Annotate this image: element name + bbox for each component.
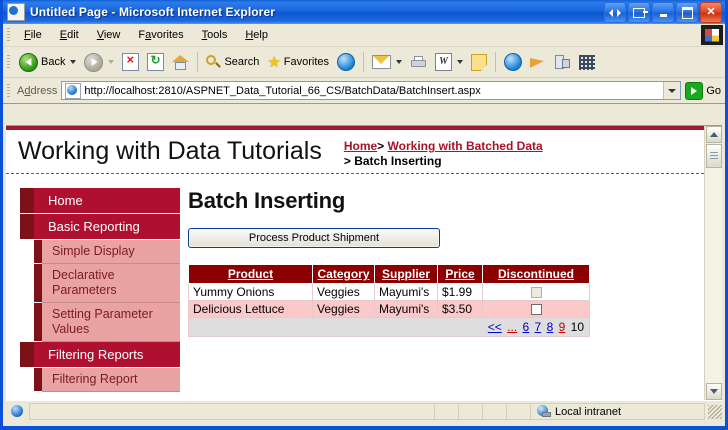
menu-tools-rest: ools xyxy=(207,29,227,41)
go-arrow-icon xyxy=(685,82,703,100)
scrollbar-thumb[interactable] xyxy=(706,144,722,168)
page-viewport: Working with Data Tutorials Home> Workin… xyxy=(6,125,722,400)
discontinued-checkbox[interactable] xyxy=(531,287,542,298)
table-row: Yummy Onions Veggies Mayumi's $1.99 xyxy=(189,284,590,301)
search-icon xyxy=(206,55,221,70)
discuss-icon xyxy=(530,55,547,70)
address-bar: Address http://localhost:2810/ASPNET_Dat… xyxy=(3,78,725,104)
pager-page-6[interactable]: 6 xyxy=(523,320,530,334)
edit-dropdown-icon[interactable] xyxy=(457,60,463,64)
pager-current-page: 10 xyxy=(571,320,584,334)
messenger-icon xyxy=(504,53,522,71)
back-button[interactable]: Back xyxy=(15,50,80,74)
research-button[interactable] xyxy=(551,50,575,74)
column-header-discontinued-label: Discontinued xyxy=(498,267,574,281)
status-message xyxy=(29,403,434,420)
grid-header-row: Product Category Supplier Price Disconti… xyxy=(189,265,590,284)
column-header-category[interactable]: Category xyxy=(313,265,375,284)
menu-favorites-rest: vorites xyxy=(151,29,183,41)
toolbar-separator-2 xyxy=(363,52,364,72)
address-dropdown-button[interactable] xyxy=(663,82,680,99)
history-button[interactable] xyxy=(333,50,359,74)
mail-button[interactable] xyxy=(368,50,406,74)
stop-icon xyxy=(122,53,139,71)
home-button[interactable] xyxy=(168,50,193,74)
discontinued-checkbox[interactable] xyxy=(531,304,542,315)
chevron-down-icon xyxy=(668,89,676,93)
sidebar-item-filtering-report[interactable]: Filtering Report xyxy=(42,368,180,392)
cell-category[interactable]: Veggies xyxy=(313,284,375,301)
security-zone-label: Local intranet xyxy=(555,406,621,418)
page-title: Batch Inserting xyxy=(188,188,704,214)
address-label: Address xyxy=(17,85,57,97)
menu-edit-rest: dit xyxy=(67,29,79,41)
status-ie-icon xyxy=(10,404,25,419)
close-button[interactable]: ✕ xyxy=(700,2,722,23)
messenger-button[interactable] xyxy=(500,50,526,74)
search-label: Search xyxy=(224,56,259,68)
maximize-button[interactable] xyxy=(676,2,698,23)
page-favicon-icon xyxy=(65,83,81,99)
breadcrumb-sep-1: > xyxy=(377,139,384,153)
go-label: Go xyxy=(706,85,721,97)
navigation-toolbar: Back Search ★ Favorites W xyxy=(3,47,725,78)
menu-favorites[interactable]: Favorites xyxy=(129,27,192,43)
breadcrumb-section-link[interactable]: Working with Batched Data xyxy=(388,139,543,153)
scroll-down-button[interactable] xyxy=(706,383,722,400)
minimize-button[interactable] xyxy=(652,2,674,23)
pager-first-link[interactable]: << xyxy=(488,320,502,334)
local-intranet-icon xyxy=(537,405,551,418)
back-icon xyxy=(19,53,38,72)
column-header-supplier[interactable]: Supplier xyxy=(375,265,438,284)
status-cell-1 xyxy=(434,403,458,420)
favorites-star-icon: ★ xyxy=(267,55,280,70)
column-header-category-label: Category xyxy=(317,267,369,281)
cell-supplier[interactable]: Mayumi's xyxy=(375,284,438,301)
security-zone[interactable]: Local intranet xyxy=(530,403,705,420)
menu-help-rest: elp xyxy=(253,29,268,41)
mail-icon xyxy=(372,55,391,69)
menu-help[interactable]: Help xyxy=(236,27,277,43)
ie-document-icon xyxy=(7,3,25,21)
menu-file-rest: ile xyxy=(31,29,42,41)
column-header-price[interactable]: Price xyxy=(438,265,483,284)
site-title: Working with Data Tutorials xyxy=(18,136,322,166)
window-controls: ✕ xyxy=(604,2,722,23)
address-input[interactable]: http://localhost:2810/ASPNET_Data_Tutori… xyxy=(61,81,681,100)
print-button[interactable] xyxy=(406,50,431,74)
column-header-discontinued[interactable]: Discontinued xyxy=(483,265,590,284)
breadcrumb-current: Batch Inserting xyxy=(354,154,441,168)
scrollbar-track[interactable] xyxy=(706,168,722,383)
browser-window: Untitled Page - Microsoft Internet Explo… xyxy=(0,0,728,430)
pager-ellipsis-link[interactable]: ... xyxy=(507,320,517,334)
back-label: Back xyxy=(41,56,65,68)
notes-button[interactable] xyxy=(467,50,491,74)
title-bar: Untitled Page - Microsoft Internet Explo… xyxy=(3,0,725,24)
search-button[interactable]: Search xyxy=(202,50,263,74)
grip-icon xyxy=(710,152,718,161)
menu-view[interactable]: View xyxy=(88,27,130,43)
column-header-product-label: Product xyxy=(228,267,273,281)
sidebar-item-filtering-reports[interactable]: Filtering Reports xyxy=(34,342,180,368)
discuss-button[interactable] xyxy=(526,50,551,74)
window-title: Untitled Page - Microsoft Internet Explo… xyxy=(30,5,275,19)
sidebar-item-simple-display[interactable]: Simple Display xyxy=(42,240,180,264)
toolbar-grip[interactable] xyxy=(7,55,10,69)
grid-pager-row: << ... 6 7 8 9 10 xyxy=(189,318,590,337)
sidebar-item-setting-parameter-values[interactable]: Setting Parameter Values xyxy=(42,303,180,342)
forward-button xyxy=(80,50,118,74)
favorites-label: Favorites xyxy=(284,56,329,68)
toolbar-separator-1 xyxy=(197,52,198,72)
menu-bar: File Edit View Favorites Tools Help xyxy=(3,24,725,47)
pager-page-9[interactable]: 9 xyxy=(559,320,566,334)
cell-discontinued[interactable] xyxy=(483,284,590,301)
back-dropdown-icon[interactable] xyxy=(70,60,76,64)
encoding-icon xyxy=(579,55,595,70)
grid-pager: << ... 6 7 8 9 10 xyxy=(189,318,590,337)
cell-product[interactable]: Yummy Onions xyxy=(189,284,313,301)
cell-category[interactable]: Veggies xyxy=(313,301,375,318)
chevron-down-icon xyxy=(710,389,718,394)
sidebar-nav: Home Basic Reporting Simple Display Decl… xyxy=(6,188,180,392)
cell-discontinued[interactable] xyxy=(483,301,590,318)
address-grip[interactable] xyxy=(7,84,10,98)
web-page: Working with Data Tutorials Home> Workin… xyxy=(6,126,704,400)
pager-page-8[interactable]: 8 xyxy=(547,320,554,334)
home-icon xyxy=(172,55,189,70)
favorites-button[interactable]: ★ Favorites xyxy=(263,50,333,74)
main-content: Batch Inserting Process Product Shipment… xyxy=(180,188,704,392)
column-header-price-label: Price xyxy=(445,267,474,281)
forward-icon xyxy=(84,53,103,72)
forward-dropdown-icon xyxy=(108,60,114,64)
notes-icon xyxy=(471,54,487,71)
chevron-up-icon xyxy=(710,132,718,137)
restore-group-button[interactable] xyxy=(604,2,626,23)
process-product-shipment-button[interactable]: Process Product Shipment xyxy=(188,228,440,248)
sidebar-item-home[interactable]: Home xyxy=(34,188,180,214)
table-row: Delicious Lettuce Veggies Mayumi's $3.50 xyxy=(189,301,590,318)
status-bar: Local intranet xyxy=(6,400,722,422)
toolbar-separator-3 xyxy=(495,52,496,72)
menu-grip[interactable] xyxy=(7,28,10,42)
mail-dropdown-icon[interactable] xyxy=(396,60,402,64)
sidebar-item-basic-reporting[interactable]: Basic Reporting xyxy=(34,214,180,240)
print-icon xyxy=(410,56,427,69)
cell-supplier[interactable]: Mayumi's xyxy=(375,301,438,318)
address-url-text: http://localhost:2810/ASPNET_Data_Tutori… xyxy=(84,85,663,97)
menu-tools[interactable]: Tools xyxy=(193,27,237,43)
refresh-icon xyxy=(147,53,164,71)
products-grid: Product Category Supplier Price Disconti… xyxy=(188,264,590,337)
encoding-button[interactable] xyxy=(575,50,599,74)
breadcrumb-sep-2: > xyxy=(344,154,351,168)
edit-word-icon: W xyxy=(435,53,452,71)
menu-edit[interactable]: Edit xyxy=(51,27,88,43)
cell-product[interactable]: Delicious Lettuce xyxy=(189,301,313,318)
research-icon xyxy=(555,55,571,70)
edit-word-button[interactable]: W xyxy=(431,50,467,74)
resize-grip[interactable] xyxy=(708,405,722,419)
sidebar-item-declarative-parameters[interactable]: Declarative Parameters xyxy=(42,264,180,303)
pager-page-7[interactable]: 7 xyxy=(535,320,542,334)
panel-toggle-button[interactable] xyxy=(628,2,650,23)
menu-view-rest: iew xyxy=(104,29,121,41)
status-cell-3 xyxy=(482,403,506,420)
column-header-product[interactable]: Product xyxy=(189,265,313,284)
column-header-supplier-label: Supplier xyxy=(382,267,430,281)
page-scrollbar[interactable] xyxy=(704,126,722,400)
cell-price[interactable]: $1.99 xyxy=(438,284,483,301)
status-cell-2 xyxy=(458,403,482,420)
stop-button[interactable] xyxy=(118,50,143,74)
ie-brand-logo xyxy=(701,25,723,45)
refresh-button[interactable] xyxy=(143,50,168,74)
page-content: Home Basic Reporting Simple Display Decl… xyxy=(6,174,704,392)
go-button[interactable]: Go xyxy=(681,82,725,100)
scroll-up-button[interactable] xyxy=(706,126,722,143)
menu-file[interactable]: File xyxy=(15,27,51,43)
cell-price[interactable]: $3.50 xyxy=(438,301,483,318)
site-header: Working with Data Tutorials Home> Workin… xyxy=(6,130,704,174)
breadcrumb-home-link[interactable]: Home xyxy=(344,139,377,153)
breadcrumb: Home> Working with Batched Data > Batch … xyxy=(344,139,543,169)
history-icon xyxy=(337,53,355,71)
status-cell-4 xyxy=(506,403,530,420)
